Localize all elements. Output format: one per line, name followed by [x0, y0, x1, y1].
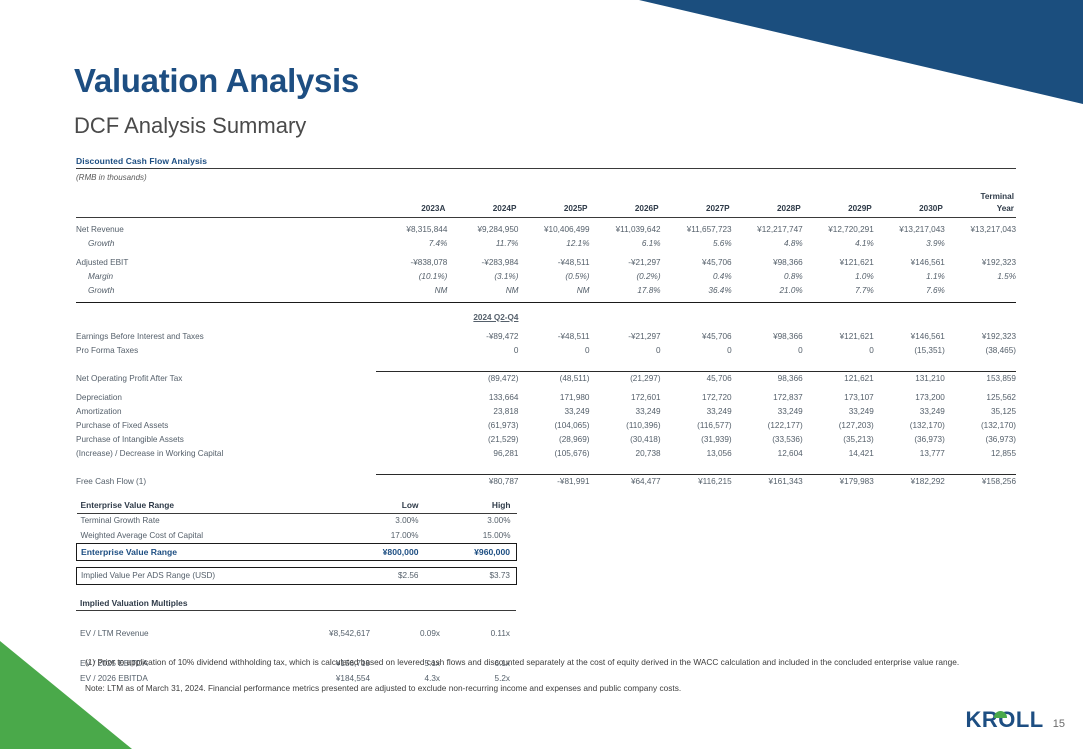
ev-header-label: Enterprise Value Range — [77, 498, 333, 513]
dcf-analysis-sheet: Discounted Cash Flow Analysis (RMB in th… — [76, 156, 1016, 686]
cell — [376, 432, 447, 446]
cell: -¥48,511 — [518, 329, 589, 343]
cell: ¥64,477 — [590, 474, 661, 488]
cell: 98,366 — [732, 371, 803, 385]
cell: ¥12,720,291 — [803, 222, 874, 236]
cell: (10.1%) — [376, 269, 447, 283]
row-label: Earnings Before Interest and Taxes — [76, 329, 376, 343]
slide: Valuation Analysis DCF Analysis Summary … — [0, 0, 1083, 749]
row-label: Purchase of Intangible Assets — [76, 432, 376, 446]
cell: (21,529) — [447, 432, 518, 446]
empty-cell — [76, 190, 376, 202]
cell: (0.5%) — [518, 269, 589, 283]
cell — [376, 418, 447, 432]
multiples-header-label: Implied Valuation Multiples — [76, 596, 516, 611]
ads-high: $3.73 — [425, 567, 517, 584]
cell: 0.8% — [732, 269, 803, 283]
col-header-2029p: 2029P — [803, 202, 874, 215]
cell: 172,720 — [661, 390, 732, 404]
cell: (122,177) — [732, 418, 803, 432]
cell: 7.6% — [874, 283, 945, 297]
cell: ¥161,343 — [732, 474, 803, 488]
table-row: Adjusted EBIT -¥838,078 -¥283,984 -¥48,5… — [76, 255, 1016, 269]
row-label: Depreciation — [76, 390, 376, 404]
table-row: Pro Forma Taxes 0 0 0 0 0 0 (15,351) (38… — [76, 343, 1016, 357]
cell: NM — [447, 283, 518, 297]
cell: 11.7% — [447, 236, 518, 250]
empty-cell — [590, 190, 661, 202]
cell: ¥98,366 — [732, 329, 803, 343]
kroll-logo: KROLL — [965, 709, 1043, 731]
row-label: Purchase of Fixed Assets — [76, 418, 376, 432]
cell: 173,107 — [803, 390, 874, 404]
cell — [376, 446, 447, 460]
table-row: Net Operating Profit After Tax (89,472) … — [76, 371, 1016, 385]
cell: ¥45,706 — [661, 255, 732, 269]
row-label: EV / LTM Revenue — [76, 626, 266, 641]
footer-logo-area: KROLL 15 — [965, 709, 1065, 731]
empty-cell — [76, 202, 376, 215]
cell: 0 — [518, 343, 589, 357]
cell: (116,577) — [661, 418, 732, 432]
cell: 0 — [803, 343, 874, 357]
cell: (110,396) — [590, 418, 661, 432]
cell: 121,621 — [803, 371, 874, 385]
empty-cell — [803, 190, 874, 202]
cell: 20,738 — [590, 446, 661, 460]
footnotes: (1) Prior to application of 10% dividend… — [85, 656, 975, 694]
cell: 153,859 — [945, 371, 1016, 385]
units-label: (RMB in thousands) — [76, 173, 1016, 182]
footnote-1: (1) Prior to application of 10% dividend… — [85, 656, 975, 668]
cell: 173,200 — [874, 390, 945, 404]
multiples-header-row: Implied Valuation Multiples — [76, 596, 516, 611]
cell: -¥81,991 — [518, 474, 589, 488]
cell: 7.7% — [803, 283, 874, 297]
row-label: Margin — [76, 269, 376, 283]
ev-range-high: ¥960,000 — [425, 543, 517, 560]
cell: (132,170) — [874, 418, 945, 432]
cell: 3.00% — [333, 513, 425, 528]
row-label: Free Cash Flow (1) — [76, 474, 376, 488]
table-row: Growth NM NM NM 17.8% 36.4% 21.0% 7.7% 7… — [76, 283, 1016, 297]
cell: 133,664 — [447, 390, 518, 404]
cell: 33,249 — [590, 404, 661, 418]
cell: 1.1% — [874, 269, 945, 283]
footnote-note: Note: LTM as of March 31, 2024. Financia… — [85, 682, 975, 694]
cell-metric: ¥8,542,617 — [266, 626, 376, 641]
column-header-row: 2023A 2024P 2025P 2026P 2027P 2028P 2029… — [76, 202, 1016, 215]
cell: -¥838,078 — [376, 255, 447, 269]
cell: 5.6% — [661, 236, 732, 250]
cell: 36.4% — [661, 283, 732, 297]
row-label: Weighted Average Cost of Capital — [77, 528, 333, 543]
col-header-terminal-year: Year — [945, 202, 1016, 215]
cell: 3.9% — [874, 236, 945, 250]
cell: 17.00% — [333, 528, 425, 543]
cell — [945, 283, 1016, 297]
cell: NM — [518, 283, 589, 297]
table-row: Amortization 23,818 33,249 33,249 33,249… — [76, 404, 1016, 418]
table-row: Weighted Average Cost of Capital 17.00% … — [77, 528, 517, 543]
cell: (35,213) — [803, 432, 874, 446]
section-title: Discounted Cash Flow Analysis — [76, 156, 1016, 169]
table-row: (Increase) / Decrease in Working Capital… — [76, 446, 1016, 460]
cell — [376, 390, 447, 404]
terminal-label: Terminal — [945, 190, 1016, 202]
cell: 0 — [590, 343, 661, 357]
cell: ¥146,561 — [874, 329, 945, 343]
implied-ads-range-row: Implied Value Per ADS Range (USD) $2.56 … — [77, 567, 517, 584]
col-header-2027p: 2027P — [661, 202, 732, 215]
cell: ¥146,561 — [874, 255, 945, 269]
cell: 45,706 — [661, 371, 732, 385]
terminal-header-row: Terminal — [76, 190, 1016, 202]
corner-accent-blue — [573, 0, 1083, 104]
cell: ¥9,284,950 — [447, 222, 518, 236]
cell: 23,818 — [447, 404, 518, 418]
cell: (21,297) — [590, 371, 661, 385]
cell: 96,281 — [447, 446, 518, 460]
ads-low: $2.56 — [333, 567, 425, 584]
cell: (28,969) — [518, 432, 589, 446]
cell: 0.4% — [661, 269, 732, 283]
cell: (36,973) — [945, 432, 1016, 446]
cell: (30,418) — [590, 432, 661, 446]
cell: -¥89,472 — [447, 329, 518, 343]
cell: 131,210 — [874, 371, 945, 385]
ev-col-high: High — [425, 498, 517, 513]
cell: 33,249 — [732, 404, 803, 418]
cell: (31,939) — [661, 432, 732, 446]
cell: 33,249 — [661, 404, 732, 418]
cell: 13,056 — [661, 446, 732, 460]
ev-col-low: Low — [333, 498, 425, 513]
cell: ¥45,706 — [661, 329, 732, 343]
cell: ¥121,621 — [803, 329, 874, 343]
cell-high: 0.11x — [446, 626, 516, 641]
row-label: Pro Forma Taxes — [76, 343, 376, 357]
spacer-row — [76, 611, 516, 626]
cell: 12.1% — [518, 236, 589, 250]
empty-cell — [76, 310, 376, 324]
empty-cell — [874, 190, 945, 202]
cell: 17.8% — [590, 283, 661, 297]
table-row: Net Revenue ¥8,315,844 ¥9,284,950 ¥10,40… — [76, 222, 1016, 236]
cell: 172,837 — [732, 390, 803, 404]
col-header-2023a: 2023A — [376, 202, 447, 215]
cell: ¥121,621 — [803, 255, 874, 269]
cell: (105,676) — [518, 446, 589, 460]
cell — [945, 236, 1016, 250]
cell: 33,249 — [518, 404, 589, 418]
table-row: Free Cash Flow (1) ¥80,787 -¥81,991 ¥64,… — [76, 474, 1016, 488]
table-row: Margin (10.1%) (3.1%) (0.5%) (0.2%) 0.4%… — [76, 269, 1016, 283]
col-header-2026p: 2026P — [590, 202, 661, 215]
table-row: Earnings Before Interest and Taxes -¥89,… — [76, 329, 1016, 343]
cell: 13,777 — [874, 446, 945, 460]
cell: -¥48,511 — [518, 255, 589, 269]
cell: (15,351) — [874, 343, 945, 357]
cell: ¥80,787 — [447, 474, 518, 488]
cell: 21.0% — [732, 283, 803, 297]
empty-cell — [447, 190, 518, 202]
cell: 4.1% — [803, 236, 874, 250]
page-subtitle: DCF Analysis Summary — [74, 113, 306, 139]
cell: ¥179,983 — [803, 474, 874, 488]
empty-cell — [376, 310, 447, 324]
cell — [376, 371, 447, 385]
col-header-2028p: 2028P — [732, 202, 803, 215]
kroll-logo-text: KROLL — [965, 707, 1043, 732]
dcf-table: Terminal 2023A 2024P 2025P 2026P 2027P 2… — [76, 182, 1016, 488]
table-row: Purchase of Intangible Assets (21,529) (… — [76, 432, 1016, 446]
cell: 1.0% — [803, 269, 874, 283]
spacer-row — [77, 560, 517, 567]
spacer-row — [76, 182, 1016, 190]
cell: 7.4% — [376, 236, 447, 250]
cell: ¥13,217,043 — [945, 222, 1016, 236]
empty-cell — [518, 190, 589, 202]
cell: (132,170) — [945, 418, 1016, 432]
ev-header-row: Enterprise Value Range Low High — [77, 498, 517, 513]
cell: ¥192,323 — [945, 329, 1016, 343]
row-label: (Increase) / Decrease in Working Capital — [76, 446, 376, 460]
cell: 0 — [447, 343, 518, 357]
quarter-note-row: 2024 Q2-Q4 — [76, 310, 1016, 324]
cell: ¥182,292 — [874, 474, 945, 488]
spacer-row — [76, 641, 516, 656]
cell: 0 — [732, 343, 803, 357]
table-row: Purchase of Fixed Assets (61,973) (104,0… — [76, 418, 1016, 432]
cell: ¥98,366 — [732, 255, 803, 269]
cell: ¥8,315,844 — [376, 222, 447, 236]
cell: (48,511) — [518, 371, 589, 385]
table-row: Growth 7.4% 11.7% 12.1% 6.1% 5.6% 4.8% 4… — [76, 236, 1016, 250]
col-header-2030p: 2030P — [874, 202, 945, 215]
cell: ¥10,406,499 — [518, 222, 589, 236]
cell: (104,065) — [518, 418, 589, 432]
cell: (0.2%) — [590, 269, 661, 283]
cell: 15.00% — [425, 528, 517, 543]
cell: (3.1%) — [447, 269, 518, 283]
cell — [376, 329, 447, 343]
page-title: Valuation Analysis — [74, 62, 359, 100]
subtotal-rule — [76, 460, 1016, 474]
row-label: Implied Value Per ADS Range (USD) — [77, 567, 333, 584]
cell: 172,601 — [590, 390, 661, 404]
row-label: Growth — [76, 283, 376, 297]
empty-cell — [376, 190, 447, 202]
cell: -¥21,297 — [590, 329, 661, 343]
empty-cell — [518, 310, 1016, 324]
cell: (127,203) — [803, 418, 874, 432]
cell: 33,249 — [803, 404, 874, 418]
col-header-2024p: 2024P — [447, 202, 518, 215]
cell: 6.1% — [590, 236, 661, 250]
cell: ¥12,217,747 — [732, 222, 803, 236]
cell: 3.00% — [425, 513, 517, 528]
spacer-row — [76, 302, 1016, 310]
col-header-2025p: 2025P — [518, 202, 589, 215]
cell: ¥158,256 — [945, 474, 1016, 488]
cell: ¥116,215 — [661, 474, 732, 488]
cell: -¥21,297 — [590, 255, 661, 269]
table-row: Depreciation 133,664 171,980 172,601 172… — [76, 390, 1016, 404]
row-label: Enterprise Value Range — [77, 543, 333, 560]
row-label: Net Revenue — [76, 222, 376, 236]
cell: 4.8% — [732, 236, 803, 250]
empty-cell — [732, 190, 803, 202]
cell: 0 — [661, 343, 732, 357]
cell: 12,855 — [945, 446, 1016, 460]
cell: 33,249 — [874, 404, 945, 418]
row-label: Amortization — [76, 404, 376, 418]
cell: 35,125 — [945, 404, 1016, 418]
cell-low: 0.09x — [376, 626, 446, 641]
cell: 125,562 — [945, 390, 1016, 404]
cell: (36,973) — [874, 432, 945, 446]
cell: ¥13,217,043 — [874, 222, 945, 236]
row-label: Net Operating Profit After Tax — [76, 371, 376, 385]
cell — [376, 474, 447, 488]
subtotal-rule — [76, 357, 1016, 371]
table-row: EV / LTM Revenue ¥8,542,617 0.09x 0.11x — [76, 626, 516, 641]
cell: NM — [376, 283, 447, 297]
row-label: Terminal Growth Rate — [77, 513, 333, 528]
cell: (61,973) — [447, 418, 518, 432]
cell — [376, 343, 447, 357]
enterprise-value-range-row: Enterprise Value Range ¥800,000 ¥960,000 — [77, 543, 517, 560]
enterprise-value-table: Enterprise Value Range Low High Terminal… — [76, 498, 517, 585]
empty-cell — [661, 190, 732, 202]
cell: 12,604 — [732, 446, 803, 460]
ev-range-low: ¥800,000 — [333, 543, 425, 560]
cell: 14,421 — [803, 446, 874, 460]
quarter-note: 2024 Q2-Q4 — [447, 310, 518, 324]
cell: 171,980 — [518, 390, 589, 404]
cell: -¥283,984 — [447, 255, 518, 269]
page-number: 15 — [1053, 718, 1065, 731]
cell: (38,465) — [945, 343, 1016, 357]
cell: ¥11,039,642 — [590, 222, 661, 236]
cell: ¥192,323 — [945, 255, 1016, 269]
row-label: Growth — [76, 236, 376, 250]
cell: (89,472) — [447, 371, 518, 385]
enterprise-value-range-block: Enterprise Value Range Low High Terminal… — [76, 498, 516, 585]
cell: ¥11,657,723 — [661, 222, 732, 236]
cell — [376, 404, 447, 418]
cell: 1.5% — [945, 269, 1016, 283]
row-label: Adjusted EBIT — [76, 255, 376, 269]
table-row: Terminal Growth Rate 3.00% 3.00% — [77, 513, 517, 528]
cell: (33,536) — [732, 432, 803, 446]
